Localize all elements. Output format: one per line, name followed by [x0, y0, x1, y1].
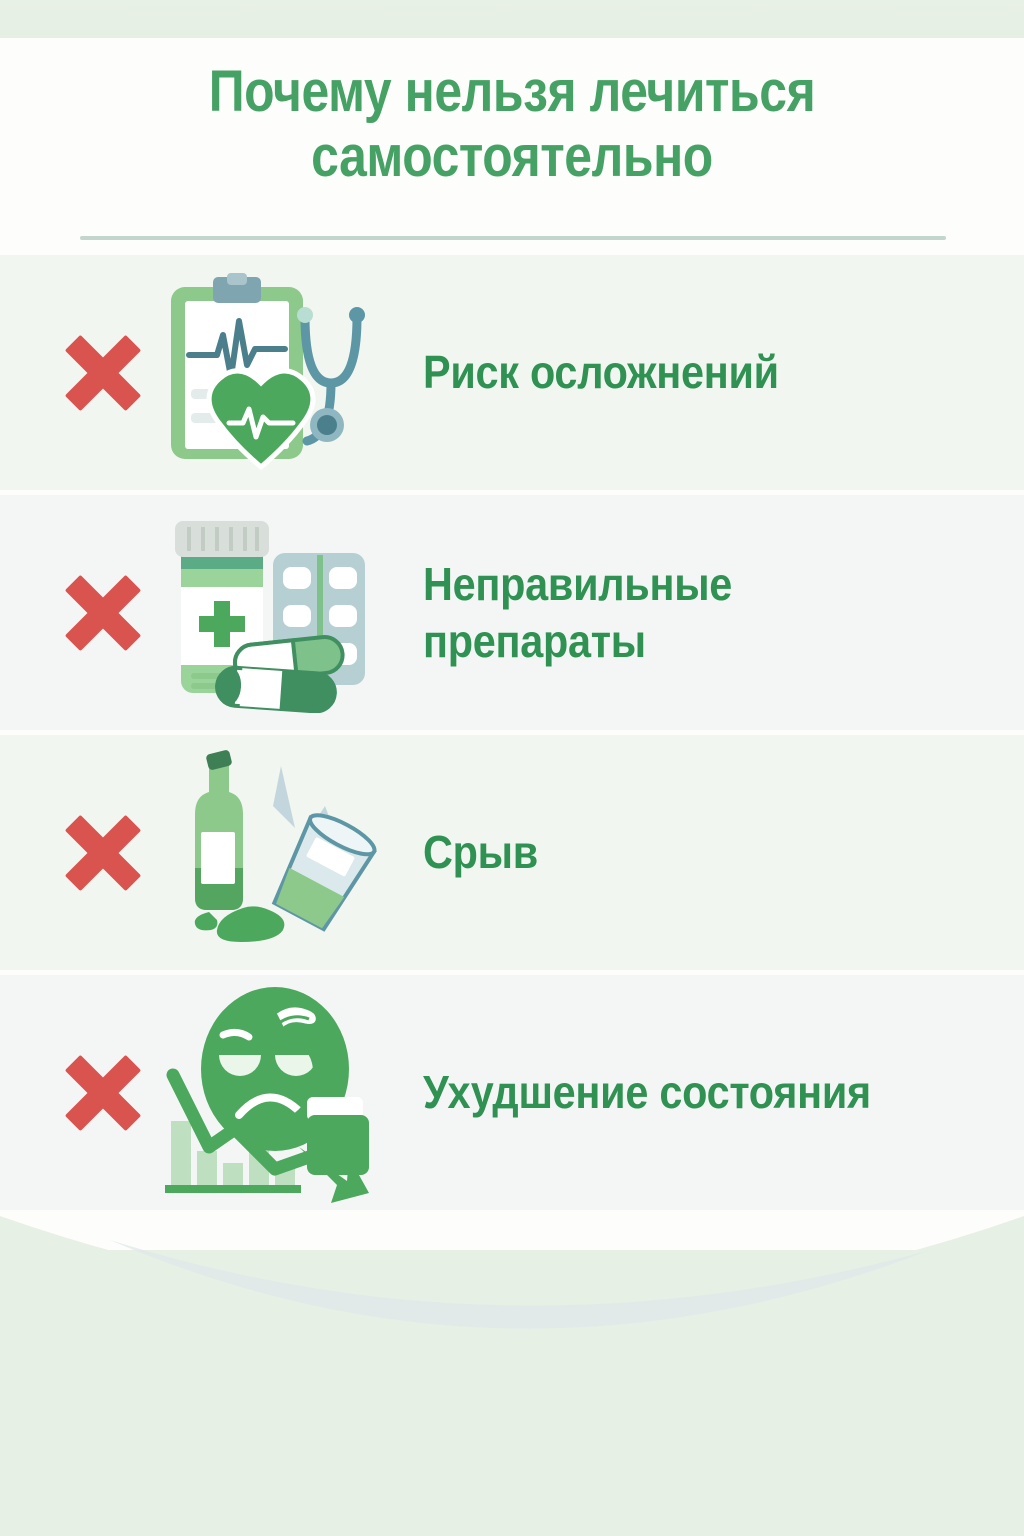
list-item: Неправильные препараты [0, 495, 1024, 730]
worried-face-declining-chart-icon [157, 985, 387, 1200]
top-accent-strip [0, 0, 1024, 38]
list-item-label: Риск осложнений [387, 344, 960, 400]
clipboard-stethoscope-heart-icon [157, 265, 387, 480]
page-title: Почему нельзя лечиться самостоятельно [72, 60, 953, 190]
list-item-label: Срыв [387, 824, 960, 880]
pill-bottle-blister-capsules-icon [157, 505, 387, 720]
reason-list: Риск осложнений [0, 255, 1024, 1215]
bottom-wave-decoration [0, 1216, 1024, 1536]
header: Почему нельзя лечиться самостоятельно [0, 38, 1024, 238]
red-x-icon [55, 1045, 151, 1141]
list-item: Ухудшение состояния [0, 975, 1024, 1210]
infographic-poster: Почему нельзя лечиться самостоятельно [0, 0, 1024, 1536]
title-divider [80, 236, 946, 240]
list-item-label: Неправильные препараты [387, 556, 960, 668]
list-item: Срыв [0, 735, 1024, 970]
red-x-icon [55, 325, 151, 421]
bottle-spilled-glass-icon [157, 745, 387, 960]
red-x-icon [55, 805, 151, 901]
red-x-icon [55, 565, 151, 661]
list-item-label: Ухудшение состояния [387, 1064, 960, 1120]
list-item: Риск осложнений [0, 255, 1024, 490]
